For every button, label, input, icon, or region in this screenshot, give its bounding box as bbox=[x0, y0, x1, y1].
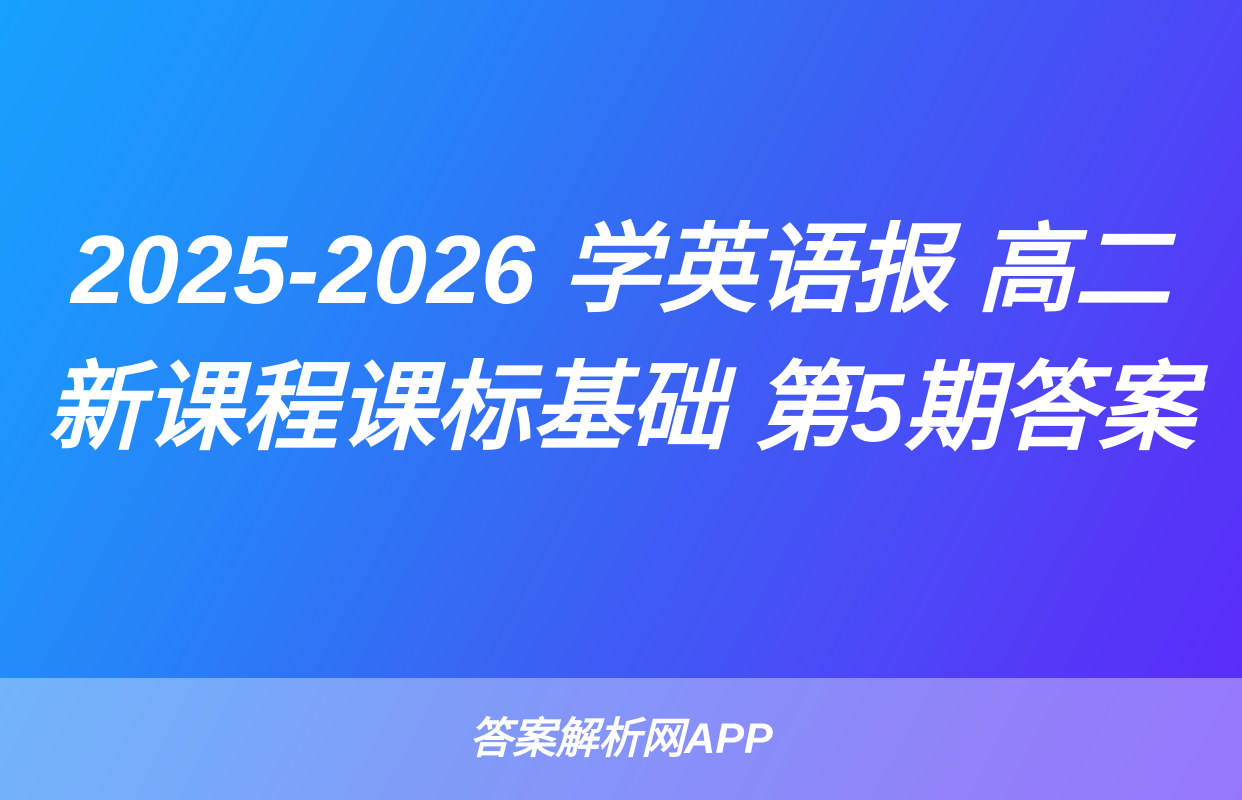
title-container: 2025-2026 学英语报 高二 新课程课标基础 第5期答案 bbox=[0, 0, 1242, 678]
page-title: 2025-2026 学英语报 高二 新课程课标基础 第5期答案 bbox=[46, 201, 1196, 477]
app-watermark-label: 答案解析网APP bbox=[469, 718, 772, 761]
watermark-band: 答案解析网APP bbox=[0, 678, 1242, 800]
answer-card: 2025-2026 学英语报 高二 新课程课标基础 第5期答案 答案解析网APP bbox=[0, 0, 1242, 800]
